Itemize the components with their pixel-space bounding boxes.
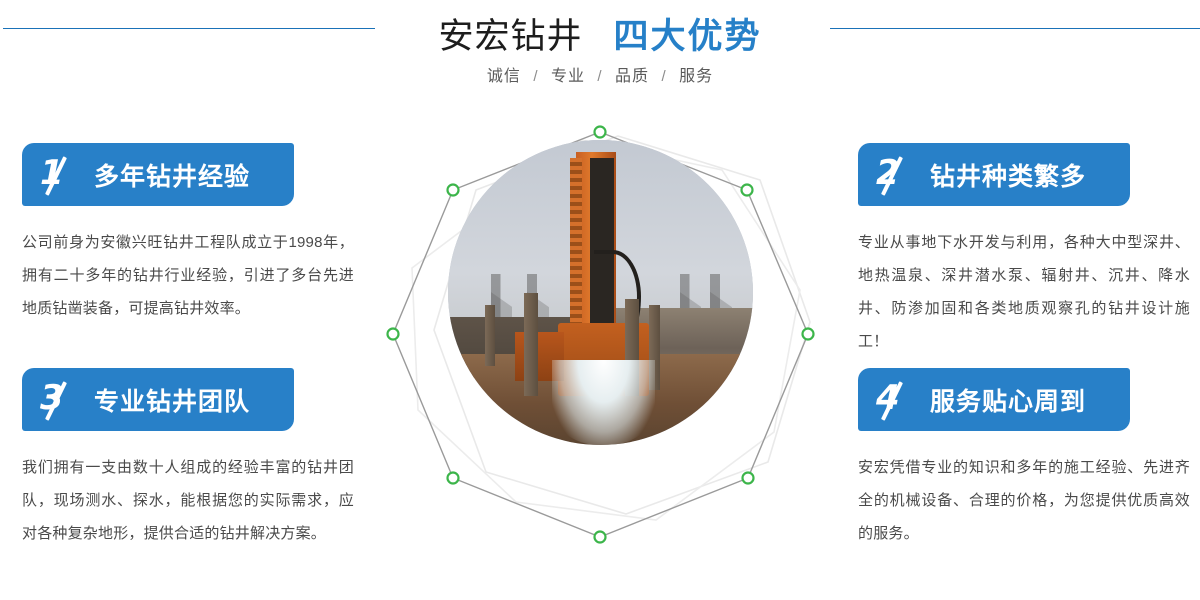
page-title: 安宏钻井 四大优势 [0, 8, 1200, 59]
feature-card-2-number-badge: 2 [876, 153, 924, 197]
page-title-highlight: 四大优势 [613, 17, 761, 56]
feature-card-3-title: 专业钻井团队 [94, 382, 250, 418]
subtitle-separator-2: / [655, 68, 674, 85]
feature-card-4-header: 4 服务贴心周到 [858, 368, 1130, 431]
feature-card-4-number-badge: 4 [876, 378, 924, 422]
subtitle-item-0: 诚信 [487, 68, 521, 85]
center-graphic [370, 110, 830, 570]
page-title-brand: 安宏钻井 [439, 17, 583, 56]
polygon-node-3 [743, 473, 754, 484]
feature-card-4-body: 安宏凭借专业的知识和多年的施工经验、先进齐全的机械设备、合理的价格，为您提供优质… [858, 451, 1190, 550]
photo-rig-leg [524, 293, 538, 397]
feature-card-2[interactable]: 2 钻井种类繁多 专业从事地下水开发与利用，各种大中型深井、地热温泉、深井潜水泵… [858, 143, 1200, 358]
feature-card-1[interactable]: 1 多年钻井经验 公司前身为安徽兴旺钻井工程队成立于1998年，拥有二十多年的钻… [22, 143, 382, 325]
polygon-node-6 [388, 329, 399, 340]
feature-card-2-body: 专业从事地下水开发与利用，各种大中型深井、地热温泉、深井潜水泵、辐射井、沉井、降… [858, 226, 1190, 358]
subtitle-item-2: 品质 [615, 68, 649, 85]
feature-card-2-title: 钻井种类繁多 [930, 157, 1086, 193]
polygon-node-4 [595, 532, 606, 543]
feature-card-3-header: 3 专业钻井团队 [22, 368, 294, 431]
photo-rig-leg [485, 305, 496, 366]
page-header: 安宏钻井 四大优势 诚信 / 专业 / 品质 / 服务 [0, 0, 1200, 105]
subtitle-separator-0: / [526, 68, 545, 85]
feature-card-2-header: 2 钻井种类繁多 [858, 143, 1130, 206]
subtitle-item-1: 专业 [551, 68, 585, 85]
feature-card-4-title: 服务贴心周到 [930, 382, 1086, 418]
photo-water-spray [552, 360, 656, 445]
polygon-node-0 [595, 127, 606, 138]
drilling-rig-photo [448, 140, 753, 445]
feature-card-1-header: 1 多年钻井经验 [22, 143, 294, 206]
page-subtitle: 诚信 / 专业 / 品质 / 服务 [0, 62, 1200, 86]
polygon-node-5 [448, 473, 459, 484]
feature-card-1-body: 公司前身为安徽兴旺钻井工程队成立于1998年，拥有二十多年的钻井行业经验，引进了… [22, 226, 354, 325]
feature-card-3[interactable]: 3 专业钻井团队 我们拥有一支由数十人组成的经验丰富的钻井团队，现场测水、探水，… [22, 368, 382, 550]
feature-card-4[interactable]: 4 服务贴心周到 安宏凭借专业的知识和多年的施工经验、先进齐全的机械设备、合理的… [858, 368, 1200, 550]
feature-card-1-number-badge: 1 [40, 153, 88, 197]
feature-card-1-title: 多年钻井经验 [94, 157, 250, 193]
subtitle-item-3: 服务 [679, 68, 713, 85]
subtitle-separator-1: / [590, 68, 609, 85]
polygon-node-2 [803, 329, 814, 340]
feature-card-3-body: 我们拥有一支由数十人组成的经验丰富的钻井团队，现场测水、探水，能根据您的实际需求… [22, 451, 354, 550]
feature-card-3-number-badge: 3 [40, 378, 88, 422]
